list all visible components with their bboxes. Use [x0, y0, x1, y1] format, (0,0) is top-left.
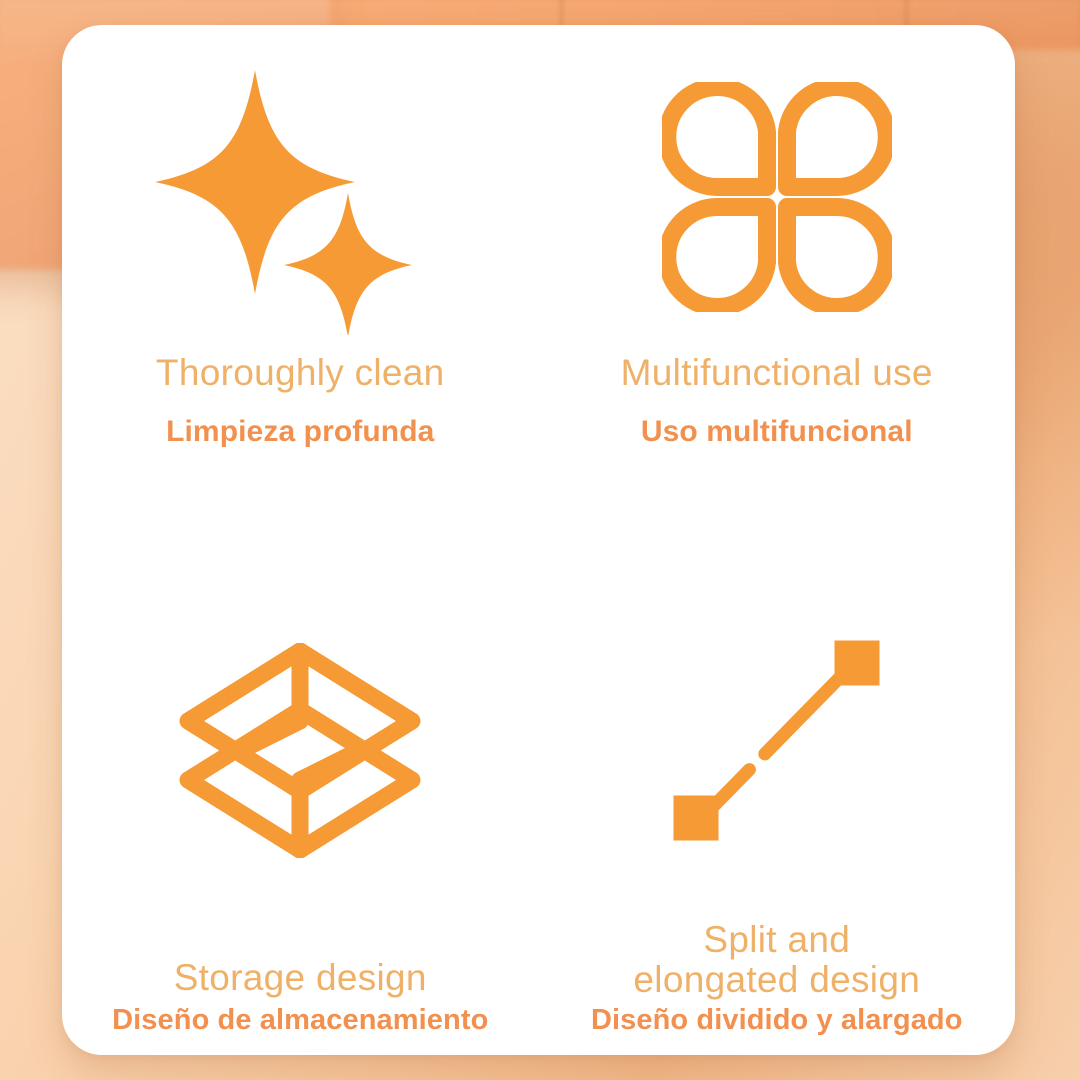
feature-title-en: Multifunctional use — [621, 353, 933, 393]
feature-title-es: Uso multifuncional — [641, 415, 913, 449]
feature-title-es: Limpieza profunda — [166, 415, 434, 449]
feature-item-storage-design: Storage design Diseño de almacenamiento — [62, 540, 539, 1055]
feature-labels: Storage design Diseño de almacenamiento — [112, 958, 488, 1036]
feature-grid: Thoroughly clean Limpieza profunda — [62, 25, 1015, 1055]
stacked-layers-icon — [62, 630, 539, 870]
feature-title-en: Storage design — [174, 958, 427, 998]
feature-item-thoroughly-clean: Thoroughly clean Limpieza profunda — [62, 25, 539, 540]
feature-title-es: Diseño dividido y alargado — [591, 1004, 963, 1036]
feature-title-en: Split and elongated design — [633, 920, 920, 1000]
page-root: Thoroughly clean Limpieza profunda — [0, 0, 1080, 1080]
dashed-diagonal-extend-icon — [539, 620, 1016, 860]
sparkles-icon — [62, 47, 539, 347]
feature-title-es: Diseño de almacenamiento — [112, 1004, 488, 1036]
four-petals-icon — [539, 47, 1016, 347]
feature-card: Thoroughly clean Limpieza profunda — [62, 25, 1015, 1055]
feature-labels: Split and elongated design Diseño dividi… — [591, 920, 963, 1036]
feature-item-split-elongated-design: Split and elongated design Diseño dividi… — [539, 540, 1016, 1055]
feature-labels: Thoroughly clean Limpieza profunda — [156, 353, 445, 449]
feature-item-multifunctional-use: Multifunctional use Uso multifuncional — [539, 25, 1016, 540]
feature-title-en: Thoroughly clean — [156, 353, 445, 393]
feature-labels: Multifunctional use Uso multifuncional — [621, 353, 933, 449]
